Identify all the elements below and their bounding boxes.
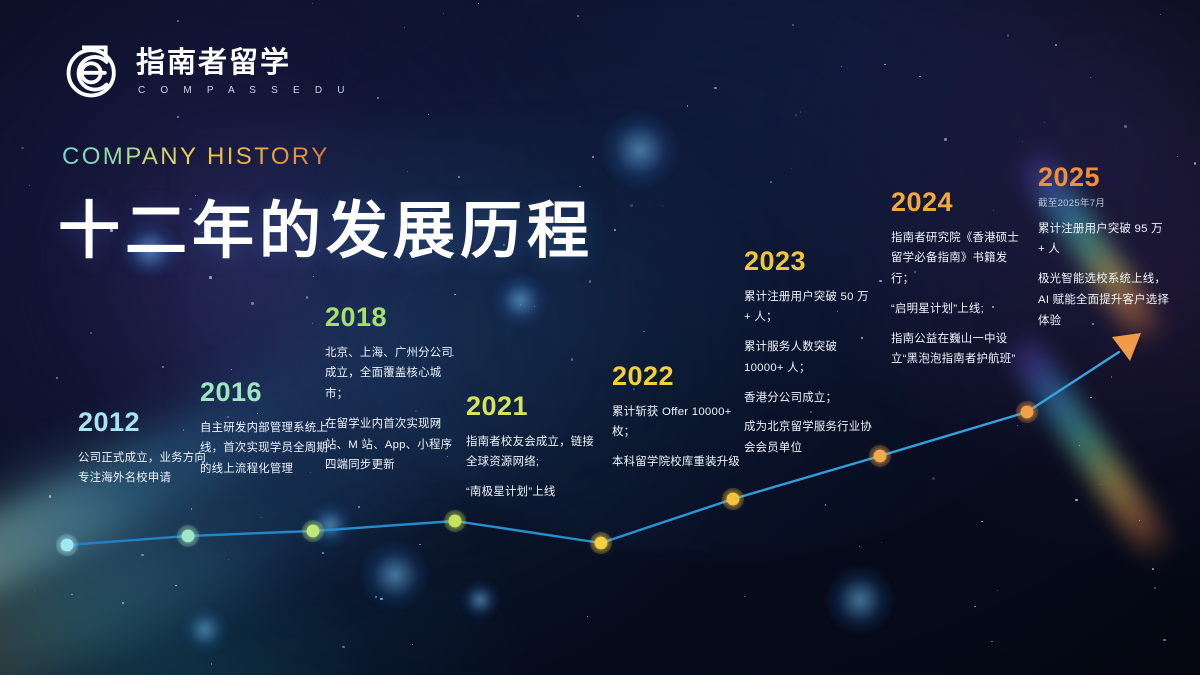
milestone-paragraph: 累计服务人数突破 10000+ 人； xyxy=(744,337,876,379)
star-speck xyxy=(1090,77,1091,78)
star-speck xyxy=(1055,44,1057,46)
star-speck xyxy=(859,546,860,547)
brand-name-cn: 指南者留学 xyxy=(136,48,351,78)
milestone-paragraph: 极光智能选校系统上线，AI 赋能全面提升客户选择体验 xyxy=(1038,269,1170,331)
star-speck xyxy=(407,171,408,172)
milestone-paragraph: 累计注册用户突破 95 万 + 人 xyxy=(1038,219,1170,261)
star-speck xyxy=(49,495,51,497)
milestone-paragraph: “启明星计划”上线; xyxy=(891,299,1023,320)
star-speck xyxy=(122,602,124,604)
star-speck xyxy=(1079,445,1080,446)
milestone-paragraph: 指南公益在巍山一中设立“黑泡泡指南者护航班” xyxy=(891,329,1023,371)
milestone-2023[interactable]: 2023累计注册用户突破 50 万 + 人；累计服务人数突破 10000+ 人；… xyxy=(744,247,876,459)
timeline-dot-2025[interactable] xyxy=(1021,406,1034,419)
star-speck xyxy=(1090,397,1092,399)
star-speck xyxy=(1124,125,1127,128)
star-speck xyxy=(974,606,975,607)
star-speck xyxy=(478,3,479,4)
star-speck xyxy=(884,64,885,65)
milestone-paragraph: 在留学业内首次实现网站、M 站、App、小程序四端同步更新 xyxy=(325,414,457,476)
milestone-body: 自主研发内部管理系统上线，首次实现学员全周期的线上流程化管理 xyxy=(200,418,332,480)
star-speck xyxy=(428,114,429,115)
star-speck xyxy=(520,304,521,305)
background-bokeh xyxy=(460,580,500,620)
star-speck xyxy=(404,27,405,28)
star-speck xyxy=(800,111,802,113)
milestone-year-label: 2018 xyxy=(325,303,457,333)
background-bokeh xyxy=(360,540,430,610)
star-speck xyxy=(1163,639,1165,641)
milestone-year-label: 2025 xyxy=(1038,163,1170,193)
star-speck xyxy=(1160,14,1161,15)
milestone-paragraph: 香港分公司成立； xyxy=(744,388,876,409)
star-speck xyxy=(630,204,632,206)
milestone-year-label: 2023 xyxy=(744,247,876,277)
star-speck xyxy=(714,87,717,90)
star-speck xyxy=(571,358,573,360)
star-speck xyxy=(21,147,24,150)
background-bokeh xyxy=(825,565,895,635)
milestone-paragraph: 本科留学院校库重装升级 xyxy=(612,452,744,473)
star-speck xyxy=(997,590,998,591)
milestone-paragraph: “南极星计划”上线 xyxy=(466,482,598,503)
star-speck xyxy=(881,542,882,543)
star-speck xyxy=(29,185,30,186)
star-speck xyxy=(71,594,73,596)
milestone-2025[interactable]: 2025截至2025年7月累计注册用户突破 95 万 + 人极光智能选校系统上线… xyxy=(1038,163,1170,331)
milestone-body: 累计斩获 Offer 10000+ 枚；本科留学院校库重装升级 xyxy=(612,402,744,473)
star-speck xyxy=(791,168,792,169)
star-speck xyxy=(412,644,413,645)
timeline-dot-halo xyxy=(722,488,744,510)
milestone-paragraph: 自主研发内部管理系统上线，首次实现学员全周期的线上流程化管理 xyxy=(200,418,332,480)
star-speck xyxy=(306,296,308,298)
star-speck xyxy=(792,24,793,25)
star-speck xyxy=(1017,425,1018,426)
milestone-year-label: 2024 xyxy=(891,188,1023,218)
star-speck xyxy=(841,66,842,67)
star-speck xyxy=(312,3,313,4)
star-speck xyxy=(1154,587,1157,590)
milestone-body: 累计注册用户突破 95 万 + 人极光智能选校系统上线，AI 赋能全面提升客户选… xyxy=(1038,219,1170,332)
timeline-dot-halo xyxy=(1016,401,1038,423)
star-speck xyxy=(177,116,179,118)
timeline-dot-halo xyxy=(444,510,466,532)
milestone-year-label: 2021 xyxy=(466,392,598,422)
timeline-arrowhead-icon xyxy=(1112,333,1141,361)
star-speck xyxy=(879,280,881,282)
timeline-dot-halo xyxy=(590,532,612,554)
star-speck xyxy=(375,596,377,598)
star-speck xyxy=(177,20,179,22)
milestone-2022[interactable]: 2022累计斩获 Offer 10000+ 枚；本科留学院校库重装升级 xyxy=(612,362,744,473)
star-speck xyxy=(228,559,229,560)
star-speck xyxy=(260,517,262,519)
milestone-body: 累计注册用户突破 50 万 + 人；累计服务人数突破 10000+ 人；香港分公… xyxy=(744,287,876,459)
star-speck xyxy=(312,323,313,324)
star-speck xyxy=(534,306,535,307)
star-speck xyxy=(991,641,993,643)
star-speck xyxy=(377,97,379,99)
star-speck xyxy=(1194,162,1197,165)
milestone-paragraph: 公司正式成立，业务方向专注海外名校申请 xyxy=(78,448,210,490)
star-speck xyxy=(342,646,344,648)
milestone-body: 公司正式成立，业务方向专注海外名校申请 xyxy=(78,448,210,490)
milestone-2012[interactable]: 2012公司正式成立，业务方向专注海外名校申请 xyxy=(78,408,210,489)
star-speck xyxy=(209,276,212,279)
timeline-dot-2023[interactable] xyxy=(727,493,740,506)
milestone-paragraph: 指南者研究院《香港硕士留学必备指南》书籍发行； xyxy=(891,228,1023,290)
star-speck xyxy=(34,590,35,591)
star-speck xyxy=(90,332,91,333)
star-speck xyxy=(231,369,232,370)
background-bokeh xyxy=(181,606,229,654)
star-speck xyxy=(577,15,579,17)
section-eyebrow: COMPANY HISTORY xyxy=(62,143,330,171)
prism-streak-lower xyxy=(999,326,1178,569)
milestone-paragraph: 累计注册用户突破 50 万 + 人； xyxy=(744,287,876,329)
star-speck xyxy=(981,521,983,523)
timeline-dot-halo xyxy=(302,520,324,542)
star-speck xyxy=(56,377,58,379)
star-speck xyxy=(825,504,826,505)
star-speck xyxy=(932,477,934,479)
star-speck xyxy=(322,552,324,554)
star-speck xyxy=(162,366,164,368)
milestone-paragraph: 成为北京留学服务行业协会会员单位 xyxy=(744,417,876,459)
star-speck xyxy=(458,176,460,178)
star-speck xyxy=(589,280,591,282)
star-speck xyxy=(175,585,177,587)
star-speck xyxy=(358,506,360,508)
milestone-body: 北京、上海、广州分公司成立，全面覆盖核心城市；在留学业内首次实现网站、M 站、A… xyxy=(325,343,457,477)
star-speck xyxy=(614,229,616,231)
milestone-2018[interactable]: 2018北京、上海、广州分公司成立，全面覆盖核心城市；在留学业内首次实现网站、M… xyxy=(325,303,457,476)
star-speck xyxy=(1022,141,1023,142)
star-speck xyxy=(919,76,921,78)
milestone-2021[interactable]: 2021指南者校友会成立，链接全球资源网络;“南极星计划”上线 xyxy=(466,392,598,503)
star-speck xyxy=(251,302,253,304)
star-speck xyxy=(1111,376,1113,378)
milestone-2016[interactable]: 2016自主研发内部管理系统上线，首次实现学员全周期的线上流程化管理 xyxy=(200,378,332,480)
star-speck xyxy=(191,508,193,510)
milestone-paragraph: 北京、上海、广州分公司成立，全面覆盖核心城市； xyxy=(325,343,457,405)
milestone-paragraph: 累计斩获 Offer 10000+ 枚； xyxy=(612,402,744,444)
star-speck xyxy=(1100,484,1101,485)
slide-canvas: 指南者留学 C O M P A S S E D U COMPANY HISTOR… xyxy=(0,0,1200,675)
star-speck xyxy=(419,544,420,545)
star-speck xyxy=(141,554,144,557)
timeline-dot-2021[interactable] xyxy=(449,515,462,528)
page-title: 十二年的发展历程 xyxy=(58,180,594,270)
milestone-year-note: 截至2025年7月 xyxy=(1038,195,1170,209)
star-speck xyxy=(592,156,594,158)
star-speck xyxy=(1075,499,1078,502)
star-speck xyxy=(211,663,212,664)
milestone-2024[interactable]: 2024指南者研究院《香港硕士留学必备指南》书籍发行；“启明星计划”上线;指南公… xyxy=(891,188,1023,370)
star-speck xyxy=(744,596,745,597)
star-speck xyxy=(770,181,772,183)
timeline-dot-halo xyxy=(56,534,78,556)
star-speck xyxy=(443,13,444,14)
background-bokeh xyxy=(493,273,548,328)
background-bokeh xyxy=(307,502,353,548)
star-speck xyxy=(1177,156,1178,157)
brand-logo[interactable]: 指南者留学 C O M P A S S E D U xyxy=(64,42,351,100)
star-speck xyxy=(643,331,644,332)
star-speck xyxy=(1007,34,1009,36)
star-speck xyxy=(662,205,663,206)
star-speck xyxy=(1152,568,1154,570)
star-speck xyxy=(454,294,456,296)
brand-name-en: C O M P A S S E D U xyxy=(136,85,351,96)
star-speck xyxy=(687,105,689,107)
timeline-dot-halo xyxy=(177,525,199,547)
timeline-dot-2022[interactable] xyxy=(595,537,608,550)
star-speck xyxy=(380,598,382,600)
star-speck xyxy=(795,114,797,116)
background-bokeh xyxy=(600,110,680,190)
timeline-dot-2018[interactable] xyxy=(307,525,320,538)
milestone-year-label: 2012 xyxy=(78,408,210,438)
milestone-paragraph: 指南者校友会成立，链接全球资源网络; xyxy=(466,432,598,474)
milestone-year-label: 2016 xyxy=(200,378,332,408)
timeline-dot-2012[interactable] xyxy=(61,539,74,552)
milestone-year-label: 2022 xyxy=(612,362,744,392)
milestone-body: 指南者校友会成立，链接全球资源网络;“南极星计划”上线 xyxy=(466,432,598,503)
star-speck xyxy=(944,138,946,140)
star-speck xyxy=(1139,520,1140,521)
milestone-body: 指南者研究院《香港硕士留学必备指南》书籍发行；“启明星计划”上线;指南公益在巍山… xyxy=(891,228,1023,371)
star-speck xyxy=(313,276,314,277)
star-speck xyxy=(1044,122,1045,123)
compass-monogram-icon xyxy=(64,42,122,100)
star-speck xyxy=(587,616,588,617)
timeline-dot-2016[interactable] xyxy=(182,530,195,543)
